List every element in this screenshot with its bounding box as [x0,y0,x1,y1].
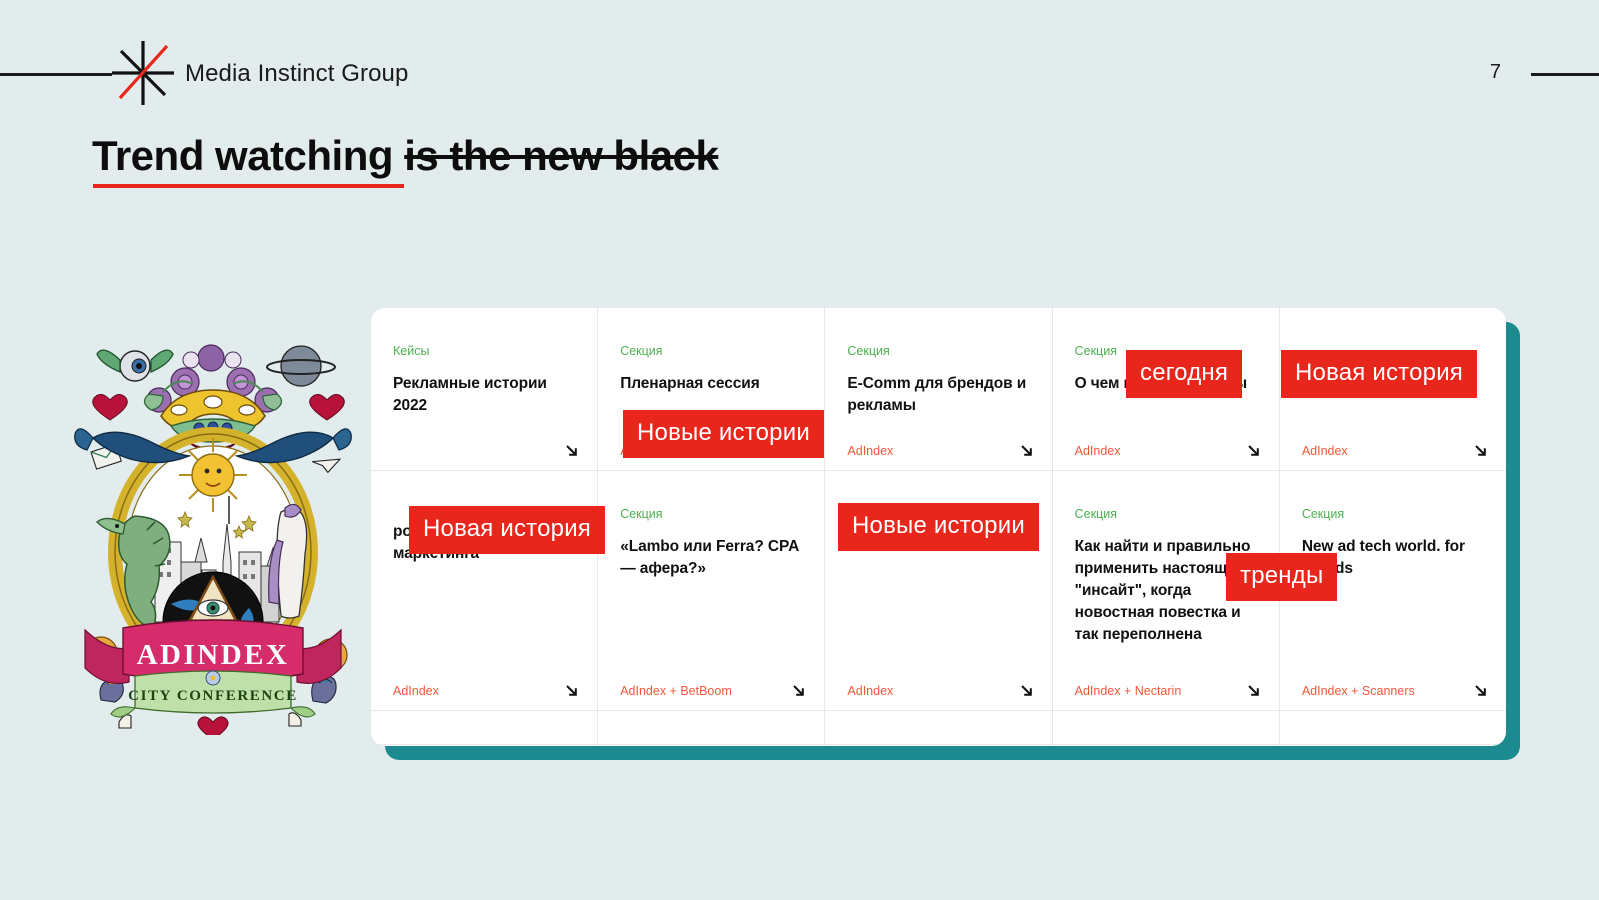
cell-organizer: AdIndex [1302,444,1348,458]
cell-footer: AdIndex + BetBoom [620,683,806,698]
cell-title: Рекламные истории 2022 [393,373,575,417]
cell-footer: AdIndex [393,683,579,698]
svg-text:CITY CONFERENCE: CITY CONFERENCE [128,688,298,704]
adindex-city-conference-crest: ADINDEX CITY CONFERENCE [63,330,363,735]
cell-footer: AdIndex [1302,443,1488,458]
cell-organizer: AdIndex [1075,444,1121,458]
page-title: Trend watching is the new black [92,133,718,179]
cell-organizer: AdIndex + Nectarin [1075,684,1182,698]
cell-kicker: Секция [847,344,1029,359]
header-rule-left [0,73,112,76]
cell-kicker: Секция [620,344,802,359]
slide-header: Media Instinct Group 7 [0,0,1599,140]
arrow-down-right-icon[interactable] [564,443,579,458]
arrow-down-right-icon[interactable] [791,683,806,698]
arrow-down-right-icon[interactable] [1246,683,1261,698]
arrow-down-right-icon[interactable] [1473,683,1488,698]
brand-name: Media Instinct Group [185,60,408,88]
cell-title: «Lambo или Ferra? CPA — афера?» [620,536,802,580]
cell-organizer: AdIndex [847,444,893,458]
program-cell[interactable]: КейсыРекламные истории 2022 [371,308,598,470]
cell-organizer: AdIndex [847,684,893,698]
program-cell-partial [1280,711,1506,746]
highlight-overlay: Новые истории [623,410,824,458]
program-row-partial [371,711,1506,745]
program-cell-partial [371,711,598,746]
cell-organizer: AdIndex + Scanners [1302,684,1415,698]
page-title-struck: is the new black [404,132,718,179]
title-underline-accent [93,184,404,188]
page-title-normal: Trend watching [92,132,404,179]
cell-organizer: AdIndex + BetBoom [620,684,732,698]
cell-footer: AdIndex + Nectarin [1075,683,1261,698]
cell-footer: AdIndex [847,443,1033,458]
asterisk-burst-icon [103,33,183,113]
arrow-down-right-icon[interactable] [1246,443,1261,458]
cell-footer [393,443,579,458]
arrow-down-right-icon[interactable] [564,683,579,698]
svg-text:ADINDEX: ADINDEX [137,639,290,671]
title-block: Trend watching is the new black [92,133,718,179]
program-cell-partial [598,711,825,746]
cell-title: E-Comm для брендов и рекламы [847,373,1029,417]
cell-footer: AdIndex [1075,443,1261,458]
highlight-overlay: Новые истории [838,503,1039,551]
page-number: 7 [1490,61,1501,84]
cell-kicker: Кейсы [393,344,575,359]
arrow-down-right-icon[interactable] [1473,443,1488,458]
highlight-overlay: тренды [1226,553,1337,601]
cell-footer: AdIndex [847,683,1033,698]
highlight-overlay: Новая история [1281,350,1477,398]
cell-kicker: Секция [1075,507,1257,522]
cell-title: Пленарная сессия [620,373,802,395]
cell-kicker: Секция [620,507,802,522]
cell-footer: AdIndex + Scanners [1302,683,1488,698]
cell-organizer: AdIndex [393,684,439,698]
program-cell[interactable]: СекцияE-Comm для брендов и рекламыAdInde… [825,308,1052,470]
program-cell-partial [825,711,1052,746]
highlight-overlay: Новая история [409,506,605,554]
arrow-down-right-icon[interactable] [1019,683,1034,698]
highlight-overlay: сегодня [1126,350,1242,398]
program-cell-partial [1053,711,1280,746]
program-card: КейсыРекламные истории 2022СекцияПленарн… [371,308,1506,746]
program-cell[interactable]: Секция«Lambo или Ferra? CPA — афера?»AdI… [598,471,825,710]
header-rule-right [1531,73,1599,76]
arrow-down-right-icon[interactable] [1019,443,1034,458]
cell-kicker: Секция [1302,507,1484,522]
